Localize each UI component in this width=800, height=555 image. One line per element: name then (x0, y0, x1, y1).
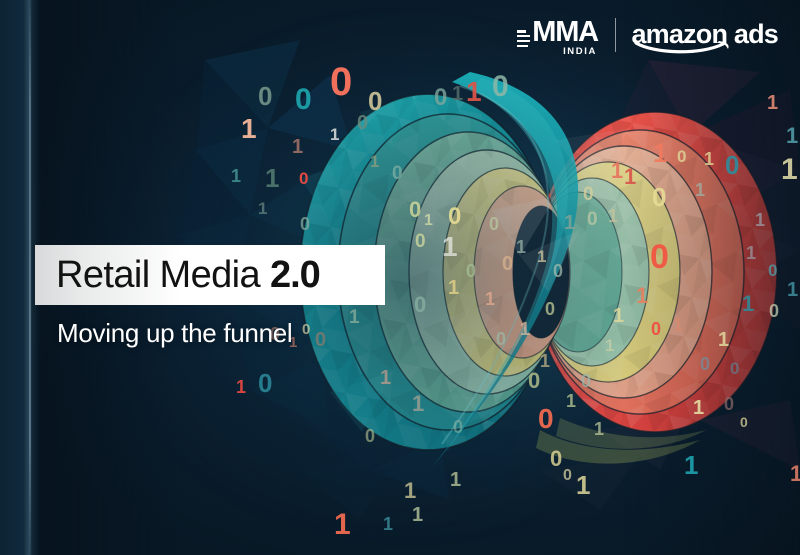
mma-wordmark: MMA INDIA (532, 19, 598, 56)
mma-bars-icon (517, 30, 530, 56)
mma-secondary-text: INDIA (563, 47, 597, 57)
book-spine-edge (29, 0, 31, 555)
book-spine (0, 0, 40, 555)
page-title: Retail Media 2.0 (56, 254, 320, 297)
logo-divider (615, 18, 617, 52)
title-bold-part: 2.0 (270, 254, 320, 296)
amazon-smile-icon (633, 39, 741, 55)
title-regular-part: Retail Media (56, 254, 270, 296)
title-banner: Retail Media 2.0 (35, 245, 385, 305)
page-subtitle: Moving up the funnel (57, 318, 292, 349)
mma-india-logo[interactable]: MMA INDIA (517, 14, 598, 56)
book-cover: 0000111110011001001001010101011100110110… (0, 0, 800, 555)
logo-bar: MMA INDIA amazon ads (517, 14, 778, 56)
amazon-ads-logo[interactable]: amazon ads (631, 21, 778, 50)
mma-primary-text: MMA (532, 19, 598, 46)
